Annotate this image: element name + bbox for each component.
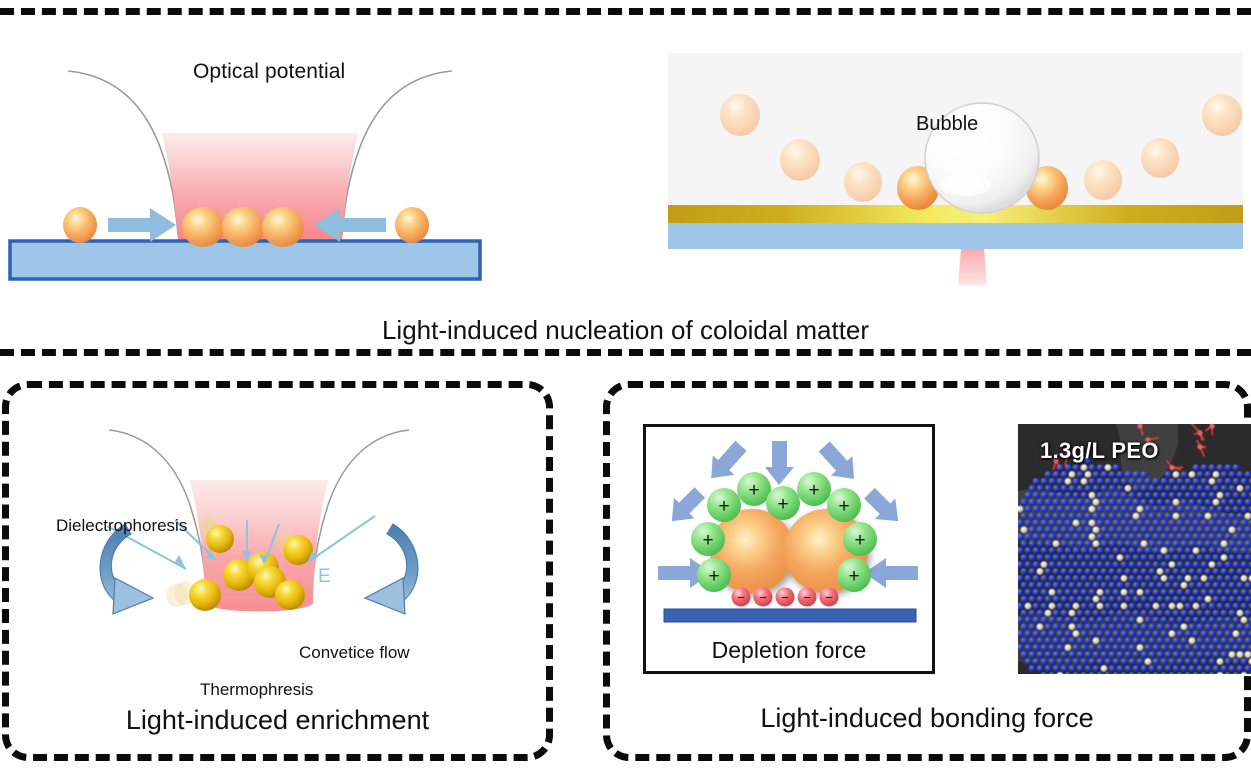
micrograph-particle	[1241, 630, 1248, 637]
micrograph-particle	[1161, 589, 1168, 596]
micrograph-particle	[1037, 568, 1044, 575]
thermophresis-label: Thermophresis	[200, 680, 313, 700]
micrograph-particle	[1125, 471, 1132, 478]
micrograph-particle	[1045, 568, 1052, 575]
micrograph-particle	[1205, 651, 1212, 658]
micrograph-particle	[1077, 665, 1084, 672]
micrograph-particle	[1037, 499, 1044, 506]
micrograph-particle	[1213, 596, 1220, 603]
micrograph-particle	[1081, 520, 1088, 527]
micrograph-particle	[1053, 582, 1060, 589]
micrograph-particle	[1213, 513, 1220, 520]
micrograph-particle	[1193, 533, 1200, 540]
micrograph-particle	[1025, 520, 1032, 527]
micrograph-particle	[1097, 547, 1104, 554]
micrograph-particle	[1137, 506, 1144, 513]
micrograph-particle	[1189, 568, 1196, 575]
micrograph-particle	[1233, 520, 1240, 527]
micrograph-particle	[1029, 499, 1036, 506]
trapped-colloid-particle	[222, 207, 264, 247]
micrograph-particle	[1053, 568, 1060, 575]
micrograph-particle	[1073, 575, 1080, 582]
potential-curve-right	[313, 430, 409, 576]
top-section-caption: Light-induced nucleation of coloidal mat…	[0, 315, 1251, 346]
micrograph-particle	[1169, 478, 1176, 485]
micrograph-particle	[1225, 644, 1232, 651]
micrograph-particle	[1053, 610, 1060, 617]
micrograph-particle	[1165, 568, 1172, 575]
micrograph-particle	[1121, 603, 1128, 610]
micrograph-particle	[1081, 533, 1088, 540]
micrograph-particle	[1069, 513, 1076, 520]
micrograph-particle	[1213, 624, 1220, 631]
colloid-particle	[63, 207, 97, 243]
micrograph-particle	[1189, 596, 1196, 603]
micrograph-particle	[1181, 540, 1188, 547]
micrograph-particle	[1097, 575, 1104, 582]
micrograph-particle	[1221, 568, 1228, 575]
micrograph-particle	[1089, 617, 1096, 624]
micrograph-particle	[1233, 561, 1240, 568]
micrograph-particle	[1209, 547, 1216, 554]
micrograph-particle	[1197, 444, 1202, 449]
micrograph-particle	[1097, 589, 1104, 596]
micrograph-particle	[1065, 561, 1072, 568]
micrograph-particle	[1085, 651, 1092, 658]
micrograph-particle	[1201, 603, 1208, 610]
micrograph-particle	[1097, 603, 1104, 610]
micrograph-particle	[1089, 658, 1096, 665]
micrograph-particle	[1201, 589, 1208, 596]
micrograph-particle	[1101, 582, 1108, 589]
micrograph-particle	[1173, 540, 1180, 547]
micrograph-particle	[1073, 589, 1080, 596]
micrograph-particle	[1101, 610, 1108, 617]
micrograph-particle	[1081, 561, 1088, 568]
micrograph-particle	[1045, 499, 1052, 506]
micrograph-particle	[1121, 644, 1128, 651]
micrograph-particle	[1105, 644, 1112, 651]
micrograph-particle	[1193, 617, 1200, 624]
micrograph-particle	[1149, 665, 1156, 672]
micrograph-particle	[1141, 651, 1148, 658]
micrograph-particle	[1073, 533, 1080, 540]
micrograph-particle	[1165, 610, 1172, 617]
micrograph-particle	[1057, 533, 1064, 540]
micrograph-particle	[1153, 520, 1160, 527]
micrograph-particle	[1129, 547, 1136, 554]
top-section: Optical potential	[0, 8, 1251, 356]
micrograph-particle	[1033, 630, 1040, 637]
micrograph-particle	[1241, 492, 1248, 499]
micrograph-particle	[1181, 499, 1188, 506]
micrograph-particle	[1041, 478, 1048, 485]
micrograph-particle	[1021, 554, 1028, 561]
micrograph-particle	[1233, 575, 1240, 582]
micrograph-particle	[1221, 471, 1228, 478]
micrograph-particle	[1125, 485, 1132, 492]
micrograph-particle	[1061, 513, 1068, 520]
suspended-particle	[1202, 94, 1242, 136]
micrograph-particle	[1049, 520, 1056, 527]
micrograph-particle	[1021, 637, 1028, 644]
micrograph-particle	[1201, 492, 1208, 499]
micrograph-particle	[1129, 520, 1136, 527]
micrograph-particle	[1065, 520, 1072, 527]
micrograph-particle	[1117, 582, 1124, 589]
micrograph-particle	[1189, 471, 1196, 478]
micrograph-particle	[1241, 478, 1248, 485]
micrograph-particle	[1109, 596, 1116, 603]
micrograph-particle	[1045, 610, 1052, 617]
micrograph-particle	[1113, 464, 1120, 471]
micrograph-particle	[1177, 644, 1184, 651]
micrograph-particle	[1133, 499, 1140, 506]
micrograph-particle	[1153, 644, 1160, 651]
micrograph-particle	[1025, 575, 1032, 582]
micrograph-particle	[1065, 603, 1072, 610]
micrograph-particle	[1129, 575, 1136, 582]
micrograph-particle	[1049, 561, 1056, 568]
micrograph-particle	[1045, 554, 1052, 561]
micrograph-particle	[1049, 575, 1056, 582]
micrograph-particle	[1065, 617, 1072, 624]
micrograph-particle	[1161, 617, 1168, 624]
micrograph-particle	[1033, 575, 1040, 582]
micrograph-particle	[1081, 658, 1088, 665]
micrograph-particle	[1233, 644, 1240, 651]
micrograph-particle	[1237, 513, 1244, 520]
micrograph-particle	[1057, 561, 1064, 568]
micrograph-particle	[1121, 617, 1128, 624]
micrograph-particle	[1073, 464, 1080, 471]
micrograph-particle	[1189, 527, 1196, 534]
micrograph-particle	[1205, 582, 1212, 589]
micrograph-particle	[1237, 471, 1244, 478]
micrograph-particle	[1149, 513, 1156, 520]
micrograph-particle	[1141, 485, 1148, 492]
micrograph-particle	[1169, 617, 1176, 624]
micrograph-particle	[1149, 637, 1156, 644]
micrograph-particle	[1057, 478, 1064, 485]
micrograph-particle	[1241, 547, 1248, 554]
micrograph-particle	[1185, 575, 1192, 582]
svg-text:+: +	[702, 530, 713, 551]
micrograph-particle	[1077, 624, 1084, 631]
micrograph-particle	[1069, 637, 1076, 644]
micrograph-particle	[1129, 617, 1136, 624]
micrograph-particle	[1133, 485, 1140, 492]
micrograph-particle	[1041, 617, 1048, 624]
micrograph-particle	[1217, 630, 1224, 637]
micrograph-particle	[1237, 596, 1244, 603]
micrograph-particle	[1133, 610, 1140, 617]
micrograph-particle	[1233, 658, 1240, 665]
micrograph-particle	[1181, 513, 1188, 520]
micrograph-particle	[1165, 485, 1172, 492]
suspended-particle	[780, 139, 820, 181]
micrograph-particle	[1021, 527, 1028, 534]
micrograph-particle	[1109, 651, 1116, 658]
micrograph-particle	[1105, 617, 1112, 624]
micrograph-particle	[1197, 430, 1202, 435]
micrograph-particle	[1037, 527, 1044, 534]
micrograph-particle	[1041, 630, 1048, 637]
svg-text:+: +	[748, 480, 759, 501]
micrograph-particle	[1157, 513, 1164, 520]
micrograph-particle	[1173, 527, 1180, 534]
micrograph-particle	[1021, 513, 1028, 520]
micrograph-particle	[1205, 527, 1212, 534]
micrograph-particle	[1089, 506, 1096, 513]
micrograph-particle	[1085, 554, 1092, 561]
micrograph-particle	[1105, 589, 1112, 596]
gold-nanoparticle	[206, 525, 234, 553]
micrograph-particle	[1081, 478, 1088, 485]
positive-charge: +	[843, 522, 877, 556]
micrograph-particle	[1129, 533, 1136, 540]
micrograph-particle	[1145, 533, 1152, 540]
micrograph-particle	[1229, 499, 1236, 506]
micrograph-particle	[1065, 589, 1072, 596]
micrograph-particle	[1133, 637, 1140, 644]
micrograph-particle	[1077, 568, 1084, 575]
micrograph-particle	[1077, 499, 1084, 506]
micrograph-particle	[1149, 624, 1156, 631]
micrograph-particle	[1097, 630, 1104, 637]
micrograph-particle	[1101, 471, 1108, 478]
micrograph-particle	[1029, 637, 1036, 644]
positive-charge: +	[837, 558, 871, 592]
micrograph-particle	[1237, 624, 1244, 631]
micrograph-particle	[1145, 589, 1152, 596]
micrograph-particle	[1081, 547, 1088, 554]
svg-text:+: +	[854, 530, 865, 551]
micrograph-particle	[1133, 513, 1140, 520]
micrograph-particle	[1161, 561, 1168, 568]
micrograph-particle	[1201, 617, 1208, 624]
micrograph-particle	[1025, 617, 1032, 624]
svg-text:+: +	[848, 566, 859, 587]
enrichment-panel: Dielectrophoresis Thermophresis Convetic…	[2, 381, 553, 761]
micrograph-particle	[1137, 617, 1144, 624]
micrograph-particle	[1093, 582, 1100, 589]
micrograph-particle	[1137, 644, 1144, 651]
micrograph-particle	[1141, 471, 1148, 478]
micrograph-particle	[1101, 568, 1108, 575]
micrograph-particle	[1225, 492, 1232, 499]
micrograph-particle	[1189, 651, 1196, 658]
micrograph-particle	[1129, 561, 1136, 568]
micrograph-particle	[1049, 617, 1056, 624]
micrograph-particle	[1109, 554, 1116, 561]
micrograph-particle	[1161, 506, 1168, 513]
micrograph-particle	[1165, 554, 1172, 561]
micrograph-particle	[1033, 492, 1040, 499]
micrograph-particle	[1165, 596, 1172, 603]
micrograph-particle	[1133, 527, 1140, 534]
micrograph-particle	[1237, 665, 1244, 672]
micrograph-particle	[1077, 540, 1084, 547]
micrograph-particle	[1117, 554, 1124, 561]
micrograph-particle	[1125, 554, 1132, 561]
micrograph-particle	[1137, 630, 1144, 637]
micrograph-particle	[1109, 527, 1116, 534]
micrograph-particle	[1053, 513, 1060, 520]
micrograph-particle	[1177, 478, 1184, 485]
micrograph-particle	[1205, 499, 1212, 506]
micrograph-particle	[1021, 596, 1028, 603]
micrograph-particle	[1085, 513, 1092, 520]
micrograph-particle	[1053, 651, 1060, 658]
micrograph-particle	[1021, 568, 1028, 575]
micrograph-particle	[1185, 520, 1192, 527]
micrograph-particle	[1105, 658, 1112, 665]
micrograph-particle	[1097, 617, 1104, 624]
micrograph-particle	[1197, 540, 1204, 547]
micrograph-particle	[1133, 540, 1140, 547]
micrograph-particle	[1229, 596, 1236, 603]
micrograph-particle	[1229, 568, 1236, 575]
suspended-particle	[720, 94, 760, 136]
micrograph-particle	[1225, 533, 1232, 540]
micrograph-particle	[1113, 658, 1120, 665]
micrograph-particle	[1209, 533, 1216, 540]
micrograph-particle	[1133, 568, 1140, 575]
figure-canvas: Optical potential	[0, 0, 1251, 770]
micrograph-particle	[1093, 610, 1100, 617]
micrograph-particle	[1241, 644, 1248, 651]
micrograph-particle	[1065, 575, 1072, 582]
micrograph-particle	[1073, 561, 1080, 568]
micrograph-particle	[1185, 561, 1192, 568]
micrograph-particle	[1177, 561, 1184, 568]
micrograph-particle	[1093, 568, 1100, 575]
micrograph-particle	[1117, 637, 1124, 644]
micrograph-particle	[1137, 575, 1144, 582]
micrograph-particle	[1169, 589, 1176, 596]
micrograph-particle	[1133, 596, 1140, 603]
micrograph-particle	[1237, 568, 1244, 575]
micrograph-particle	[1221, 540, 1228, 547]
micrograph-particle	[1241, 589, 1248, 596]
micrograph-particle	[1185, 478, 1192, 485]
micrograph-particle	[1117, 527, 1124, 534]
micrograph-particle	[1173, 513, 1180, 520]
micrograph-particle	[1089, 478, 1096, 485]
micrograph-particle	[1237, 610, 1244, 617]
micrograph-particle	[1069, 485, 1076, 492]
micrograph-particle	[1065, 492, 1072, 499]
micrograph-particle	[1213, 637, 1220, 644]
micrograph-particle	[1165, 665, 1172, 672]
micrograph-particle	[1073, 658, 1080, 665]
micrograph-particle	[1097, 561, 1104, 568]
micrograph-particle	[1025, 603, 1032, 610]
colloid-particle	[395, 207, 429, 243]
micrograph-particle	[1205, 665, 1212, 672]
micrograph-particle	[1225, 464, 1232, 471]
micrograph-particle	[1089, 464, 1096, 471]
trapped-colloid-particle	[182, 207, 224, 247]
micrograph-particle	[1177, 492, 1184, 499]
micrograph-particle	[1133, 554, 1140, 561]
micrograph-particle	[1053, 485, 1060, 492]
micrograph-particle	[1177, 589, 1184, 596]
micrograph-particle	[1105, 506, 1112, 513]
micrograph-particle	[1221, 651, 1228, 658]
micrograph-particle	[1133, 471, 1140, 478]
micrograph-particle	[1149, 554, 1156, 561]
depletion-force-box: + + + + + + + + + − − − − −	[643, 424, 935, 674]
micrograph-particle	[1137, 561, 1144, 568]
micrograph-particle	[1069, 596, 1076, 603]
micrograph-particle	[1037, 624, 1044, 631]
micrograph-particle	[1021, 540, 1028, 547]
micrograph-particle	[1069, 568, 1076, 575]
micrograph-particle	[1225, 603, 1232, 610]
micrograph-particle	[1137, 492, 1144, 499]
svg-text:+: +	[808, 480, 819, 501]
micrograph-particle	[1169, 547, 1176, 554]
micrograph-particle	[1085, 499, 1092, 506]
micrograph-particle	[1053, 471, 1060, 478]
micrograph-particle	[1157, 485, 1164, 492]
micrograph-particle	[1077, 554, 1084, 561]
micrograph-particle	[1229, 651, 1236, 658]
gold-nanoparticle	[189, 579, 221, 611]
micrograph-particle	[1201, 478, 1208, 485]
micrograph-particle	[1197, 527, 1204, 534]
micrograph-particle	[1157, 665, 1164, 672]
micrograph-particle	[1093, 665, 1100, 672]
micrograph-particle	[1217, 658, 1224, 665]
micrograph-particle	[1053, 637, 1060, 644]
micrograph-particle	[1053, 554, 1060, 561]
positive-charge: +	[766, 486, 800, 520]
micrograph-particle	[1221, 499, 1228, 506]
micrograph-particle	[1209, 464, 1216, 471]
micrograph-particle	[1121, 547, 1128, 554]
svg-text:−: −	[737, 590, 745, 605]
micrograph-particle	[1105, 575, 1112, 582]
micrograph-particle	[1145, 561, 1152, 568]
micrograph-particle	[1161, 603, 1168, 610]
suspended-particle	[1141, 138, 1179, 178]
micrograph-particle	[1049, 603, 1056, 610]
micrograph-particle	[1221, 665, 1228, 672]
micrograph-particle	[1193, 478, 1200, 485]
micrograph-particle	[1237, 637, 1244, 644]
micrograph-particle	[1049, 478, 1056, 485]
micrograph-particle	[1213, 582, 1220, 589]
micrograph-particle	[1161, 644, 1168, 651]
glass-layer	[668, 223, 1243, 249]
micrograph-particle	[1217, 589, 1224, 596]
micrograph-particle	[1037, 596, 1044, 603]
micrograph-particle	[1057, 506, 1064, 513]
micrograph-particle	[1101, 637, 1108, 644]
micrograph-particle	[1125, 527, 1132, 534]
micrograph-particle	[1049, 658, 1056, 665]
micrograph-particle	[1209, 478, 1216, 485]
micrograph-particle	[1129, 506, 1136, 513]
micrograph-particle	[1109, 637, 1116, 644]
micrograph-particle	[1125, 499, 1132, 506]
svg-text:−: −	[825, 590, 833, 605]
suspended-particle	[1084, 160, 1122, 200]
micrograph-particle	[1169, 658, 1176, 665]
